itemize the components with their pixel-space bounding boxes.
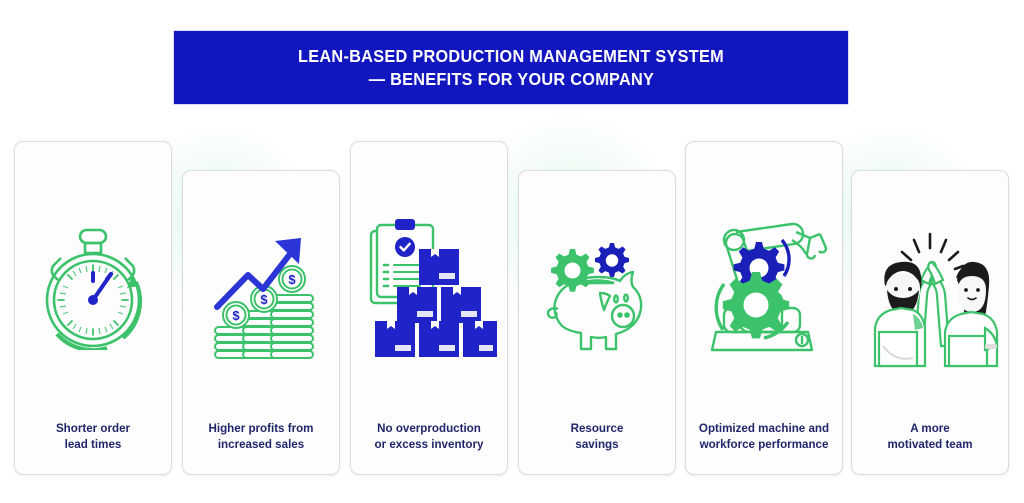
benefit-card-label: No overproduction or excess inventory [351,421,507,474]
benefit-card-label: Higher profits from increased sales [183,421,339,474]
coin-stacks-growth-arrow-icon: $ $ $ [183,171,339,421]
svg-text:$: $ [232,308,240,323]
benefit-card-resource-savings[interactable]: Resource savings [518,170,676,475]
benefit-card-list: Shorter order lead times [0,0,1024,503]
benefit-card-optimized-machine[interactable]: Optimized machine and workforce performa… [685,141,843,475]
benefit-card-label: Resource savings [519,421,675,474]
infographic-canvas: LEAN-BASED PRODUCTION MANAGEMENT SYSTEM … [0,0,1024,503]
robot-arm-gears-icon [686,142,842,421]
svg-text:$: $ [288,272,296,287]
benefit-card-no-overproduction[interactable]: No overproduction or excess inventory [350,141,508,475]
benefit-card-label: A more motivated team [852,421,1008,474]
benefit-card-label: Shorter order lead times [15,421,171,474]
clipboard-boxes-icon [351,142,507,421]
piggy-bank-gears-icon [519,171,675,421]
svg-text:$: $ [260,292,268,307]
stopwatch-icon [15,142,171,421]
benefit-card-higher-profits[interactable]: $ $ $ Higher profits from increased sale… [182,170,340,475]
team-high-five-icon [852,171,1008,421]
benefit-card-shorter-lead-times[interactable]: Shorter order lead times [14,141,172,475]
benefit-card-label: Optimized machine and workforce performa… [686,421,842,474]
benefit-card-motivated-team[interactable]: A more motivated team [851,170,1009,475]
